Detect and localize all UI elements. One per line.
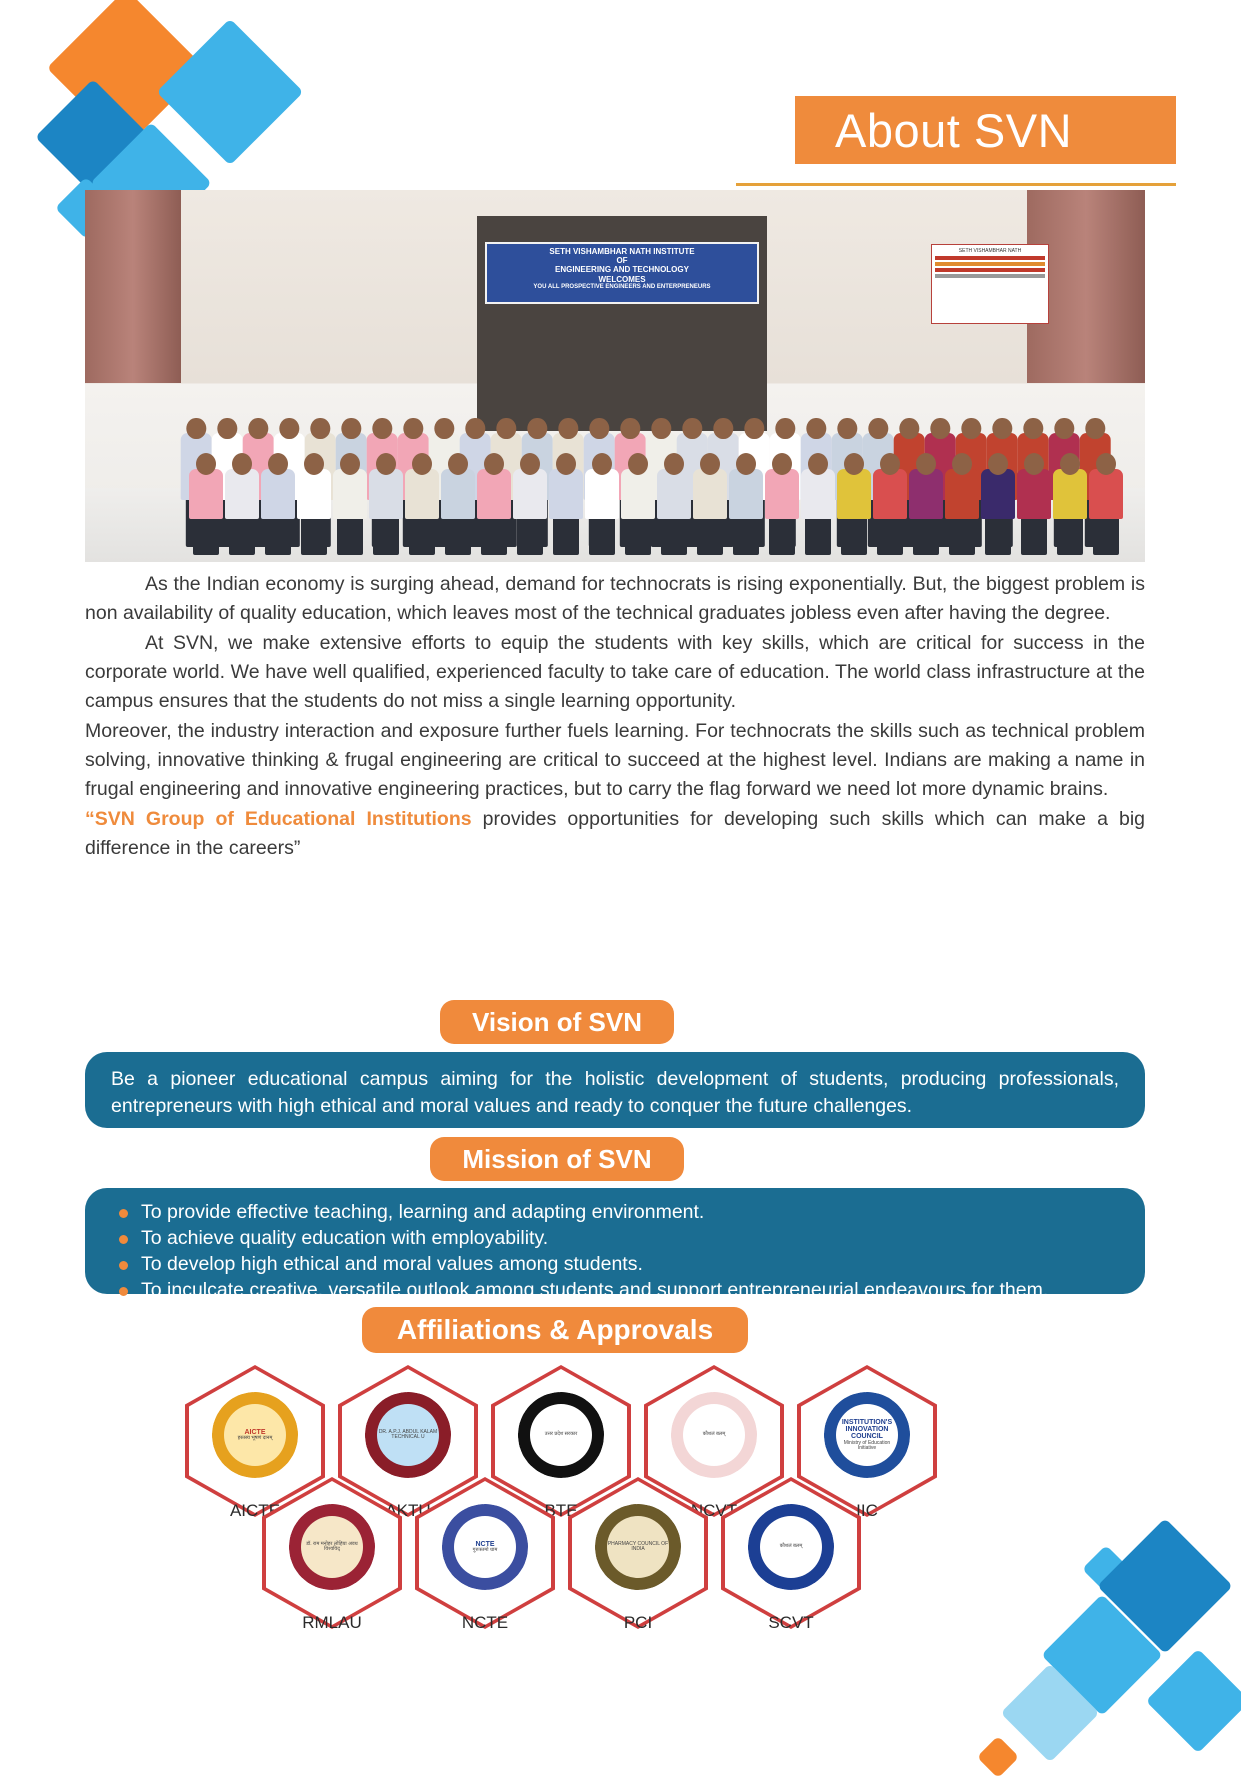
- photo-person-seated: [765, 447, 799, 555]
- photo-person-seated: [693, 447, 727, 555]
- logo-subtext: उत्तर प्रदेश सरकार: [545, 1432, 578, 1437]
- photo-person-seated: [657, 447, 691, 555]
- affiliations-heading: Affiliations & Approvals: [362, 1307, 748, 1353]
- header-underline: [736, 183, 1176, 186]
- affiliation-hex-ncte[interactable]: NCTEगुरुःस्तमो धामNCTE: [415, 1477, 555, 1629]
- mission-heading: Mission of SVN: [430, 1137, 684, 1181]
- photo-person-seated: [621, 447, 655, 555]
- bte-logo: उत्तर प्रदेश सरकार: [518, 1392, 604, 1478]
- logo-subtext: गुरुःस्तमो धाम: [473, 1548, 498, 1553]
- photo-person-seated: [585, 447, 619, 555]
- logo-ring: PHARMACY COUNCIL OF INDIA: [595, 1504, 681, 1590]
- affiliation-logos-row-2: डॉ. राम मनोहर लोहिया अवध विश्वविद्RMLAUN…: [262, 1477, 902, 1629]
- about-text-block: As the Indian economy is surging ahead, …: [85, 570, 1145, 864]
- logo-core: NCTEगुरुःस्तमो धाम: [454, 1516, 516, 1578]
- logo-subtext: कौशलं बलम्: [703, 1432, 726, 1437]
- quote-highlight: “SVN Group of Educational Institutions: [85, 808, 472, 830]
- logo-core: कौशलं बलम्: [760, 1516, 822, 1578]
- photo-person-seated: [189, 447, 223, 555]
- group-photo: SETH VISHAMBHAR NATH INSTITUTE OF ENGINE…: [85, 190, 1145, 562]
- photo-person-seated: [801, 447, 835, 555]
- photo-person-seated: [513, 447, 547, 555]
- photo-person-seated: [261, 447, 295, 555]
- page-title: About SVN: [795, 107, 1072, 154]
- logo-ring: उत्तर प्रदेश सरकार: [518, 1392, 604, 1478]
- logo-ring: कौशलं बलम्: [671, 1392, 757, 1478]
- list-item: To achieve quality education with employ…: [111, 1226, 1119, 1251]
- logo-ring: डॉ. राम मनोहर लोहिया अवध विश्वविद्: [289, 1504, 375, 1590]
- photo-person-seated: [1053, 447, 1087, 555]
- photo-person-seated: [729, 447, 763, 555]
- logo-ring: कौशलं बलम्: [748, 1504, 834, 1590]
- affiliation-hex-pci[interactable]: PHARMACY COUNCIL OF INDIAPCI: [568, 1477, 708, 1629]
- decor-diamond-b5: [1146, 1649, 1241, 1754]
- welcome-line-3: ENGINEERING AND TECHNOLOGY: [489, 265, 755, 274]
- photo-side-notice: SETH VISHAMBHAR NATH: [931, 244, 1049, 324]
- logo-subtext: कौशलं बलम्: [780, 1544, 803, 1549]
- logo-core: डॉ. राम मनोहर लोहिया अवध विश्वविद्: [301, 1516, 363, 1578]
- welcome-line-1: SETH VISHAMBHAR NATH INSTITUTE: [489, 247, 755, 256]
- logo-core: PHARMACY COUNCIL OF INDIA: [607, 1516, 669, 1578]
- ncvt-logo: कौशलं बलम्: [671, 1392, 757, 1478]
- ncte-logo: NCTEगुरुःस्तमो धाम: [442, 1504, 528, 1590]
- scvt-logo: कौशलं बलम्: [748, 1504, 834, 1590]
- decoration-bottom-right: [881, 1424, 1241, 1754]
- welcome-line-2: OF: [489, 256, 755, 265]
- photo-person-seated: [477, 447, 511, 555]
- logo-ring: AICTEहस्तस्य भूषणं दानम्: [212, 1392, 298, 1478]
- photo-person-seated: [1017, 447, 1051, 555]
- affiliation-label: PCI: [568, 1613, 708, 1633]
- affiliation-hex-scvt[interactable]: कौशलं बलम्SCVT: [721, 1477, 861, 1629]
- photo-person-seated: [225, 447, 259, 555]
- logo-core: उत्तर प्रदेश सरकार: [530, 1404, 592, 1466]
- photo-person-seated: [909, 447, 943, 555]
- affiliation-label: SCVT: [721, 1613, 861, 1633]
- photo-person-seated: [333, 447, 367, 555]
- photo-person-seated: [837, 447, 871, 555]
- photo-pillar-left: [85, 190, 181, 383]
- pci-logo: PHARMACY COUNCIL OF INDIA: [595, 1504, 681, 1590]
- decor-diamond-b6: [977, 1736, 1019, 1778]
- logo-core: DR. A.P.J. ABDUL KALAM TECHNICAL U: [377, 1404, 439, 1466]
- photo-person-seated: [945, 447, 979, 555]
- mission-list: To provide effective teaching, learning …: [111, 1200, 1119, 1303]
- welcome-line-4: WELCOMES: [489, 275, 755, 284]
- photo-person-seated: [549, 447, 583, 555]
- list-item: To inculcate creative, versatile outlook…: [111, 1278, 1119, 1303]
- vision-text: Be a pioneer educational campus aiming f…: [111, 1066, 1119, 1120]
- logo-ring: NCTEगुरुःस्तमो धाम: [442, 1504, 528, 1590]
- paragraph-quote: “SVN Group of Educational Institutions p…: [85, 805, 1145, 863]
- photo-person-seated: [405, 447, 439, 555]
- logo-subtext: डॉ. राम मनोहर लोहिया अवध विश्वविद्: [301, 1542, 363, 1553]
- list-item: To provide effective teaching, learning …: [111, 1200, 1119, 1225]
- logo-ring: DR. A.P.J. ABDUL KALAM TECHNICAL U: [365, 1392, 451, 1478]
- affiliation-label: RMLAU: [262, 1613, 402, 1633]
- affiliation-label: NCTE: [415, 1613, 555, 1633]
- photo-person-seated: [1089, 447, 1123, 555]
- logo-subtext: हस्तस्य भूषणं दानम्: [238, 1436, 273, 1441]
- welcome-line-5: YOU ALL PROSPECTIVE ENGINEERS AND ENTERP…: [489, 284, 755, 291]
- photo-person-seated: [369, 447, 403, 555]
- photo-person-seated: [981, 447, 1015, 555]
- photo-welcome-board: SETH VISHAMBHAR NATH INSTITUTE OF ENGINE…: [485, 242, 759, 304]
- mission-panel: To provide effective teaching, learning …: [85, 1188, 1145, 1294]
- photo-person-seated: [297, 447, 331, 555]
- vision-panel: Be a pioneer educational campus aiming f…: [85, 1052, 1145, 1128]
- photo-person-seated: [441, 447, 475, 555]
- aicte-logo: AICTEहस्तस्य भूषणं दानम्: [212, 1392, 298, 1478]
- page-header-banner: About SVN: [795, 96, 1176, 164]
- paragraph-2: At SVN, we make extensive efforts to equ…: [85, 629, 1145, 716]
- vision-heading: Vision of SVN: [440, 1000, 674, 1044]
- affiliation-hex-rmlau[interactable]: डॉ. राम मनोहर लोहिया अवध विश्वविद्RMLAU: [262, 1477, 402, 1629]
- aktu-logo: DR. A.P.J. ABDUL KALAM TECHNICAL U: [365, 1392, 451, 1478]
- side-notice-title: SETH VISHAMBHAR NATH: [932, 248, 1048, 254]
- logo-core: कौशलं बलम्: [683, 1404, 745, 1466]
- paragraph-3: Moreover, the industry interaction and e…: [85, 717, 1145, 804]
- paragraph-1: As the Indian economy is surging ahead, …: [85, 570, 1145, 628]
- photo-person-seated: [873, 447, 907, 555]
- list-item: To develop high ethical and moral values…: [111, 1252, 1119, 1277]
- rmlau-logo: डॉ. राम मनोहर लोहिया अवध विश्वविद्: [289, 1504, 375, 1590]
- logo-core: AICTEहस्तस्य भूषणं दानम्: [224, 1404, 286, 1466]
- logo-subtext: PHARMACY COUNCIL OF INDIA: [607, 1542, 669, 1553]
- logo-subtext: DR. A.P.J. ABDUL KALAM TECHNICAL U: [377, 1430, 439, 1441]
